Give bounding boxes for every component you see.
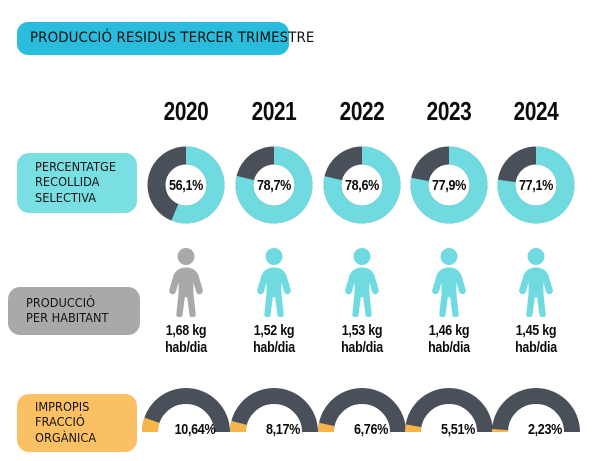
chip-line-1: PERCENTATGE: [35, 159, 137, 175]
donut-chart-2020: 56,1%: [147, 146, 225, 224]
donut-chart-2024: 77,1%: [497, 146, 575, 224]
donut-chart-2022: 78,6%: [323, 146, 401, 224]
gauge-chart-2024: 2,23%: [492, 388, 580, 438]
person-value-unit: hab/dia: [489, 340, 584, 357]
gauge-chart-2022: 6,76%: [318, 388, 406, 438]
person-icon: [428, 247, 470, 317]
label-chip-produccio-per-habitant: PRODUCCIÓ PER HABITANT: [8, 287, 140, 335]
chip-line-3: ORGÀNICA: [35, 430, 137, 446]
donut-value-2021: 78,7%: [241, 146, 307, 224]
donut-value-2020: 56,1%: [153, 146, 219, 224]
chip-line-2: PER HABITANT: [26, 311, 140, 327]
year-header-2020: 2020: [142, 96, 230, 127]
person-icon: [165, 247, 207, 317]
year-header-2023: 2023: [405, 96, 493, 127]
person-value-number: 1,45 kg: [489, 323, 584, 340]
donut-value-2024: 77,1%: [503, 146, 569, 224]
year-header-2021: 2021: [230, 96, 318, 127]
year-header-2022: 2022: [318, 96, 406, 127]
year-header-2024: 2024: [492, 96, 580, 127]
person-icon: [341, 247, 383, 317]
person-icon: [253, 247, 295, 317]
gauge-value-2024: 2,23%: [508, 421, 582, 438]
chip-line-1: PRODUCCIÓ: [26, 295, 140, 311]
page-title: PRODUCCIÓ RESIDUS TERCER TRIMESTRE: [30, 31, 315, 47]
label-chip-recollida-selectiva: PERCENTATGE RECOLLIDA SELECTIVA: [17, 153, 137, 213]
donut-chart-2023: 77,9%: [410, 146, 488, 224]
person-value-2024: 1,45 kg hab/dia: [489, 323, 584, 357]
donut-chart-2021: 78,7%: [235, 146, 313, 224]
person-icon: [515, 247, 557, 317]
gauge-value-2023: 5,51%: [421, 421, 495, 438]
chip-line-2: FRACCIÓ: [35, 415, 137, 431]
label-chip-impropis-fraccio-organica: IMPROPIS FRACCIÓ ORGÀNICA: [17, 394, 137, 452]
donut-value-2022: 78,6%: [329, 146, 395, 224]
gauge-chart-2023: 5,51%: [405, 388, 493, 438]
gauge-value-2022: 6,76%: [334, 421, 408, 438]
gauge-chart-2021: 8,17%: [230, 388, 318, 438]
title-banner: PRODUCCIÓ RESIDUS TERCER TRIMESTRE: [17, 22, 289, 55]
chip-line-1: IMPROPIS: [35, 399, 137, 415]
gauge-chart-2020: 10,64%: [142, 388, 230, 438]
gauge-value-2020: 10,64%: [158, 421, 232, 438]
pictogram-column-2024: 1,45 kg hab/dia: [481, 247, 591, 357]
gauge-value-2021: 8,17%: [246, 421, 320, 438]
donut-value-2023: 77,9%: [416, 146, 482, 224]
chip-line-3: SELECTIVA: [35, 190, 137, 206]
chip-line-2: RECOLLIDA: [35, 175, 137, 191]
